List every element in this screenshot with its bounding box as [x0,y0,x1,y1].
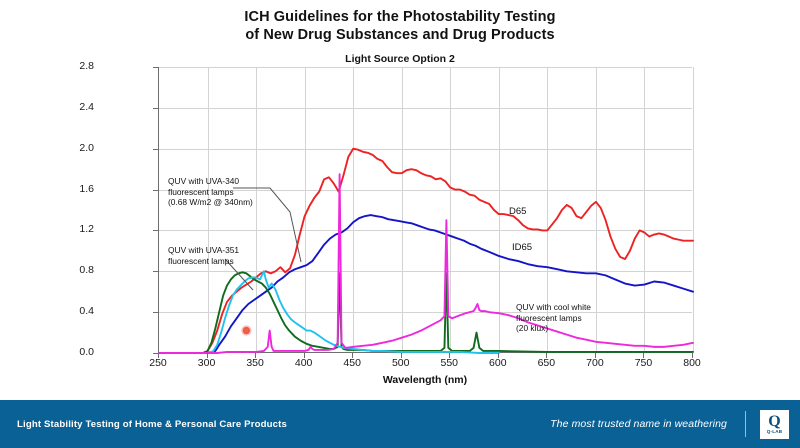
series-tag-d65: D65 [509,206,526,217]
y-tick-mark [153,312,158,313]
annotation-cool-white-line1: QUV with cool white [516,302,591,313]
y-tick-label: 2.0 [54,142,94,154]
series-line [159,272,693,353]
plot-area [158,67,692,353]
series-line [159,215,693,353]
y-tick-label: 2.8 [54,60,94,72]
x-tick-label: 450 [329,357,375,369]
x-tick-label: 800 [669,357,715,369]
annotation-uva340-line2: fluorescent lamps [168,187,253,198]
y-tick-mark [153,149,158,150]
x-tick-mark [207,353,208,358]
annotation-cool-white: QUV with cool white fluorescent lamps (2… [516,302,591,334]
annotation-uva340-line3: (0.68 W/m2 @ 340nm) [168,197,253,208]
x-tick-mark [692,353,693,358]
y-tick-label: 0.8 [54,264,94,276]
footer-tagline: The most trusted name in weathering [550,418,727,430]
x-tick-label: 550 [426,357,472,369]
annotation-uva340-line1: QUV with UVA-340 [168,176,253,187]
y-tick-mark [153,108,158,109]
x-tick-label: 650 [523,357,569,369]
x-axis-label: Wavelength (nm) [158,374,692,386]
footer-bottom-strip [0,444,800,448]
qlab-logo-mark: Q [768,414,780,429]
x-tick-mark [401,353,402,358]
x-tick-mark [352,353,353,358]
y-tick-label: 1.2 [54,223,94,235]
y-tick-mark [153,271,158,272]
x-tick-label: 700 [572,357,618,369]
x-tick-mark [595,353,596,358]
x-tick-mark [643,353,644,358]
qlab-logo: Q Q-LAB [760,410,789,439]
y-tick-mark [153,230,158,231]
x-tick-label: 300 [184,357,230,369]
series-tag-id65: ID65 [512,242,532,253]
y-tick-mark [153,67,158,68]
footer-bar: Light Stability Testing of Home & Person… [0,400,800,448]
x-tick-mark [304,353,305,358]
y-tick-label: 2.4 [54,101,94,113]
annotation-uva351: QUV with UVA-351 fluorescent lamps [168,245,239,266]
chart: Irradiance (W/m2) Wavelength (nm) 0.00.4… [0,0,800,400]
x-tick-label: 600 [475,357,521,369]
annotation-uva351-line2: fluorescent lamps [168,256,239,267]
x-tick-label: 350 [232,357,278,369]
annotation-uva351-line1: QUV with UVA-351 [168,245,239,256]
y-tick-label: 0.0 [54,346,94,358]
x-tick-label: 500 [378,357,424,369]
qlab-logo-text: Q-LAB [767,429,783,434]
footer-brand-group: The most trusted name in weathering Q Q-… [550,410,800,439]
footer-divider [745,411,746,437]
y-tick-label: 0.4 [54,305,94,317]
annotation-cool-white-line2: fluorescent lamps [516,313,591,324]
slide-page: ICH Guidelines for the Photostability Te… [0,0,800,448]
footer-content: Light Stability Testing of Home & Person… [0,406,800,442]
annotation-cool-white-line3: (20 klux) [516,323,591,334]
annotation-uva340: QUV with UVA-340 fluorescent lamps (0.68… [168,176,253,208]
uva340-reference-point [243,327,250,334]
x-tick-label: 750 [620,357,666,369]
y-tick-mark [153,190,158,191]
y-tick-label: 1.6 [54,183,94,195]
x-tick-label: 400 [281,357,327,369]
x-tick-mark [158,353,159,358]
x-tick-mark [546,353,547,358]
x-tick-label: 250 [135,357,181,369]
series-curves [159,67,693,353]
footer-title: Light Stability Testing of Home & Person… [17,419,287,430]
slide-content: ICH Guidelines for the Photostability Te… [0,0,800,400]
x-tick-mark [449,353,450,358]
x-tick-mark [498,353,499,358]
x-tick-mark [255,353,256,358]
gridline-vertical [693,67,694,352]
